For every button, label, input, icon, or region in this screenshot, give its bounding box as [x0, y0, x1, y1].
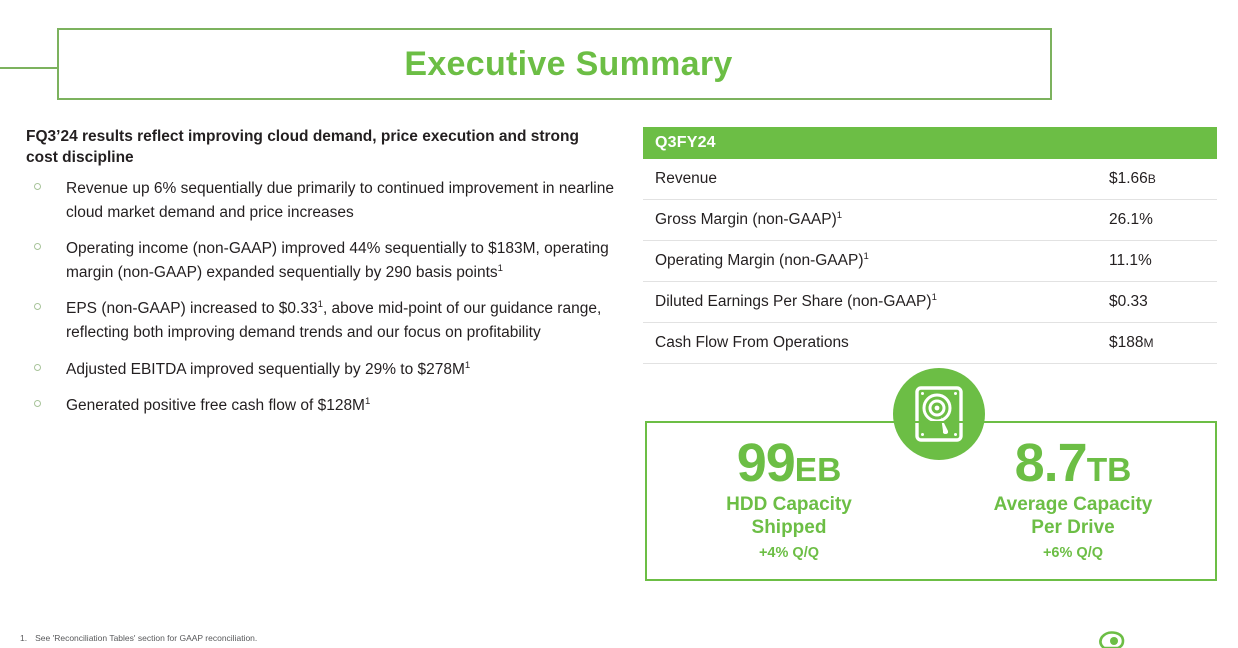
table-row-value: $0.33 [1109, 293, 1201, 311]
stat-value: 99EB [737, 435, 842, 491]
footnote-marker: 1 [863, 251, 868, 262]
title-accent-rule [0, 67, 58, 69]
table-row-value-text: $0.33 [1109, 293, 1148, 310]
bullet-marker-icon [34, 183, 41, 190]
table-row-label-text: Gross Margin (non-GAAP) [655, 211, 837, 228]
stat-card: 99EB HDD Capacity Shipped +4% Q/Q [647, 423, 931, 579]
footnote-marker: 1 [837, 210, 842, 221]
left-content-column: FQ3’24 results reflect improving cloud d… [26, 127, 626, 431]
list-item-text: Adjusted EBITDA improved sequentially by… [66, 361, 465, 378]
bullet-marker-icon [34, 364, 41, 371]
stat-number: 99 [737, 433, 795, 493]
bullet-marker-icon [34, 303, 41, 310]
bullet-marker-icon [34, 243, 41, 250]
stat-label-line2: Shipped [752, 517, 827, 538]
stat-delta: +4% Q/Q [759, 545, 819, 561]
list-item: Generated positive free cash flow of $12… [26, 394, 626, 418]
company-logo [1096, 630, 1236, 648]
stat-label-line1: HDD Capacity [726, 494, 852, 515]
table-row-label-text: Diluted Earnings Per Share (non-GAAP) [655, 293, 932, 310]
footnote: 1.See 'Reconciliation Tables' section fo… [20, 633, 257, 643]
footnote-marker: 1 [498, 263, 503, 274]
table-row: Cash Flow From Operations$188M [643, 323, 1217, 364]
list-item: Operating income (non-GAAP) improved 44%… [26, 237, 626, 284]
metrics-table-header: Q3FY24 [643, 127, 1217, 159]
stat-number: 8.7 [1015, 433, 1087, 493]
stat-label: HDD Capacity Shipped [726, 494, 852, 540]
table-row: Revenue$1.66B [643, 159, 1217, 200]
slide-root: Executive Summary FQ3’24 results reflect… [0, 0, 1238, 648]
table-row: Diluted Earnings Per Share (non-GAAP)1$0… [643, 282, 1217, 323]
stat-label: Average Capacity Per Drive [994, 494, 1153, 540]
list-item-text: Operating income (non-GAAP) improved 44%… [66, 240, 609, 281]
table-row-label-text: Operating Margin (non-GAAP) [655, 252, 863, 269]
table-row-value: $1.66B [1109, 170, 1201, 188]
list-item-text: EPS (non-GAAP) increased to $0.33 [66, 300, 318, 317]
list-item: Adjusted EBITDA improved sequentially by… [26, 358, 626, 382]
table-row-value-text: $1.66 [1109, 170, 1148, 187]
list-item-text: Revenue up 6% sequentially due primarily… [66, 180, 614, 221]
table-row-value: 26.1% [1109, 211, 1201, 229]
table-row-value-text: 11.1% [1109, 252, 1152, 269]
table-row: Gross Margin (non-GAAP)126.1% [643, 200, 1217, 241]
footnote-marker: 1 [465, 359, 470, 370]
stat-label-line1: Average Capacity [994, 494, 1153, 515]
table-row-value-text: 26.1% [1109, 211, 1153, 228]
table-row-value-unit: B [1148, 172, 1156, 186]
stat-value: 8.7TB [1015, 435, 1132, 491]
stat-delta: +6% Q/Q [1043, 545, 1103, 561]
table-row-label: Gross Margin (non-GAAP)1 [655, 211, 842, 229]
table-row-value: 11.1% [1109, 252, 1201, 270]
highlight-stats-box: 99EB HDD Capacity Shipped +4% Q/Q 8.7TB … [645, 421, 1217, 581]
footnote-text: See 'Reconciliation Tables' section for … [35, 633, 257, 643]
table-row-label: Cash Flow From Operations [655, 334, 849, 352]
metrics-table-body: Revenue$1.66BGross Margin (non-GAAP)126.… [643, 159, 1217, 364]
list-item: EPS (non-GAAP) increased to $0.331, abov… [26, 297, 626, 344]
stat-unit: EB [795, 452, 842, 489]
table-row-label-text: Revenue [655, 170, 717, 187]
footnote-marker: 1 [365, 396, 370, 407]
footnote-marker: 1 [932, 292, 937, 303]
table-row-label: Revenue [655, 170, 717, 188]
table-row-label: Diluted Earnings Per Share (non-GAAP)1 [655, 293, 937, 311]
lead-statement: FQ3’24 results reflect improving cloud d… [26, 127, 592, 168]
metrics-table-header-label: Q3FY24 [655, 134, 716, 152]
table-row-label: Operating Margin (non-GAAP)1 [655, 252, 869, 270]
stat-card: 8.7TB Average Capacity Per Drive +6% Q/Q [931, 423, 1215, 579]
bullet-list: Revenue up 6% sequentially due primarily… [26, 177, 626, 417]
table-row-value-unit: M [1143, 336, 1153, 350]
stat-unit: TB [1087, 452, 1132, 489]
table-row-value-text: $188 [1109, 334, 1143, 351]
list-item-text: Generated positive free cash flow of $12… [66, 397, 365, 414]
page-title: Executive Summary [376, 45, 732, 84]
table-row-value: $188M [1109, 334, 1201, 352]
table-row: Operating Margin (non-GAAP)111.1% [643, 241, 1217, 282]
table-row-label-text: Cash Flow From Operations [655, 334, 849, 351]
title-box: Executive Summary [57, 28, 1052, 100]
metrics-table: Q3FY24 Revenue$1.66BGross Margin (non-GA… [643, 127, 1217, 364]
stat-label-line2: Per Drive [1031, 517, 1114, 538]
list-item: Revenue up 6% sequentially due primarily… [26, 177, 626, 224]
bullet-marker-icon [34, 400, 41, 407]
footnote-number: 1. [20, 633, 27, 643]
